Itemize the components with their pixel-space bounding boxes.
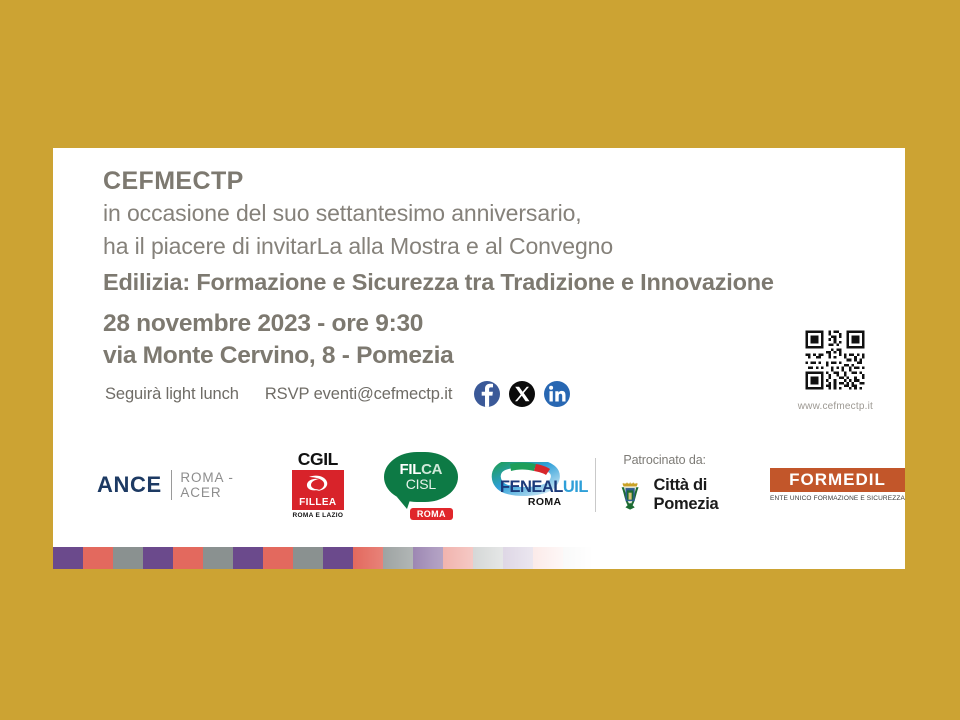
- color-strip-block: [293, 547, 323, 569]
- fillea-wordmark: FILLEA: [299, 497, 336, 508]
- fillea-badge: FILLEA: [292, 470, 344, 510]
- lunch-note: Seguirà light lunch: [105, 385, 239, 404]
- logo-ance: ANCE ROMA - ACER: [97, 470, 240, 500]
- color-strip-block: [563, 547, 593, 569]
- color-strip-block: [83, 547, 113, 569]
- color-strip-block: [113, 547, 143, 569]
- color-strip-block: [413, 547, 443, 569]
- feneal-region: ROMA: [528, 496, 562, 508]
- event-details-block: 28 novembre 2023 - ore 9:30 via Monte Ce…: [103, 308, 453, 373]
- event-date: 28 novembre 2023 - ore 9:30: [103, 308, 453, 340]
- formedil-wordmark: FORMEDIL: [779, 471, 896, 489]
- invitation-line-2: ha il piacere di invitarLa alla Mostra e…: [103, 230, 774, 263]
- formedil-subtitle: ENTE UNICO FORMAZIONE E SICUREZZA: [770, 495, 905, 502]
- invitation-card: CEFMECTP in occasione del suo settantesi…: [53, 148, 905, 569]
- formedil-badge: FORMEDIL: [770, 468, 905, 493]
- event-title: Edilizia: Formazione e Sicurezza tra Tra…: [103, 265, 774, 300]
- color-strip: [53, 547, 593, 569]
- ance-wordmark: ANCE: [97, 472, 162, 498]
- uil-text: UIL: [563, 478, 588, 496]
- x-twitter-icon[interactable]: [509, 381, 535, 407]
- color-strip-block: [473, 547, 503, 569]
- pomezia-crest-icon: [617, 473, 643, 517]
- logo-fenealuil: FENEALUIL ROMA: [484, 454, 569, 516]
- invitation-line-1: in occasione del suo settantesimo annive…: [103, 197, 774, 230]
- logo-filca-cisl: FILCA CISL ROMA: [384, 452, 458, 518]
- social-links: [474, 381, 570, 407]
- rsvp-contact: RSVP eventi@cefmectp.it: [265, 385, 452, 404]
- color-strip-block: [263, 547, 293, 569]
- patronage-label: Patrocinato da:: [623, 453, 748, 467]
- filca-region: ROMA: [410, 508, 453, 520]
- color-strip-block: [143, 547, 173, 569]
- website-url: www.cefmectp.it: [798, 401, 873, 412]
- color-strip-block: [383, 547, 413, 569]
- color-strip-block: [173, 547, 203, 569]
- event-address: via Monte Cervino, 8 - Pomezia: [103, 340, 453, 372]
- color-strip-block: [323, 547, 353, 569]
- patronage-block: Patrocinato da: Città di Pomezia: [617, 453, 748, 517]
- color-strip-block: [233, 547, 263, 569]
- logo-cgil-fillea: CGIL FILLEA ROMA E LAZIO: [292, 451, 344, 520]
- filca-bubble-shape: FILCA CISL: [384, 452, 458, 502]
- feneal-text: FENEAL: [500, 478, 563, 496]
- fillea-swoosh-icon: [305, 474, 331, 498]
- filca-wordmark: FILCA: [400, 462, 443, 477]
- organization-name: CEFMECTP: [103, 166, 774, 197]
- cgil-region: ROMA E LAZIO: [292, 512, 344, 519]
- sponsor-logo-row: ANCE ROMA - ACER CGIL FILLEA ROMA E LAZI…: [53, 444, 905, 526]
- pomezia-name: Città di Pomezia: [654, 476, 748, 514]
- qr-block: www.cefmectp.it: [798, 328, 873, 412]
- divider: [595, 458, 596, 512]
- logo-formedil: FORMEDIL ENTE UNICO FORMAZIONE E SICUREZ…: [770, 468, 905, 503]
- facebook-icon[interactable]: [474, 381, 500, 407]
- rsvp-row: Seguirà light lunch RSVP eventi@cefmectp…: [105, 381, 570, 407]
- patronage-row: Città di Pomezia: [617, 473, 748, 517]
- color-strip-block: [203, 547, 233, 569]
- divider: [171, 470, 172, 500]
- color-strip-block: [503, 547, 533, 569]
- ance-subtitle: ROMA - ACER: [180, 470, 240, 500]
- linkedin-icon[interactable]: [544, 381, 570, 407]
- color-strip-block: [443, 547, 473, 569]
- color-strip-block: [353, 547, 383, 569]
- color-strip-block: [53, 547, 83, 569]
- fenealuil-wordmark: FENEALUIL: [500, 478, 588, 497]
- qr-code-image[interactable]: [803, 328, 867, 392]
- headline-block: CEFMECTP in occasione del suo settantesi…: [103, 166, 774, 300]
- cisl-wordmark: CISL: [406, 477, 436, 492]
- color-strip-block: [533, 547, 563, 569]
- cgil-wordmark: CGIL: [292, 451, 344, 469]
